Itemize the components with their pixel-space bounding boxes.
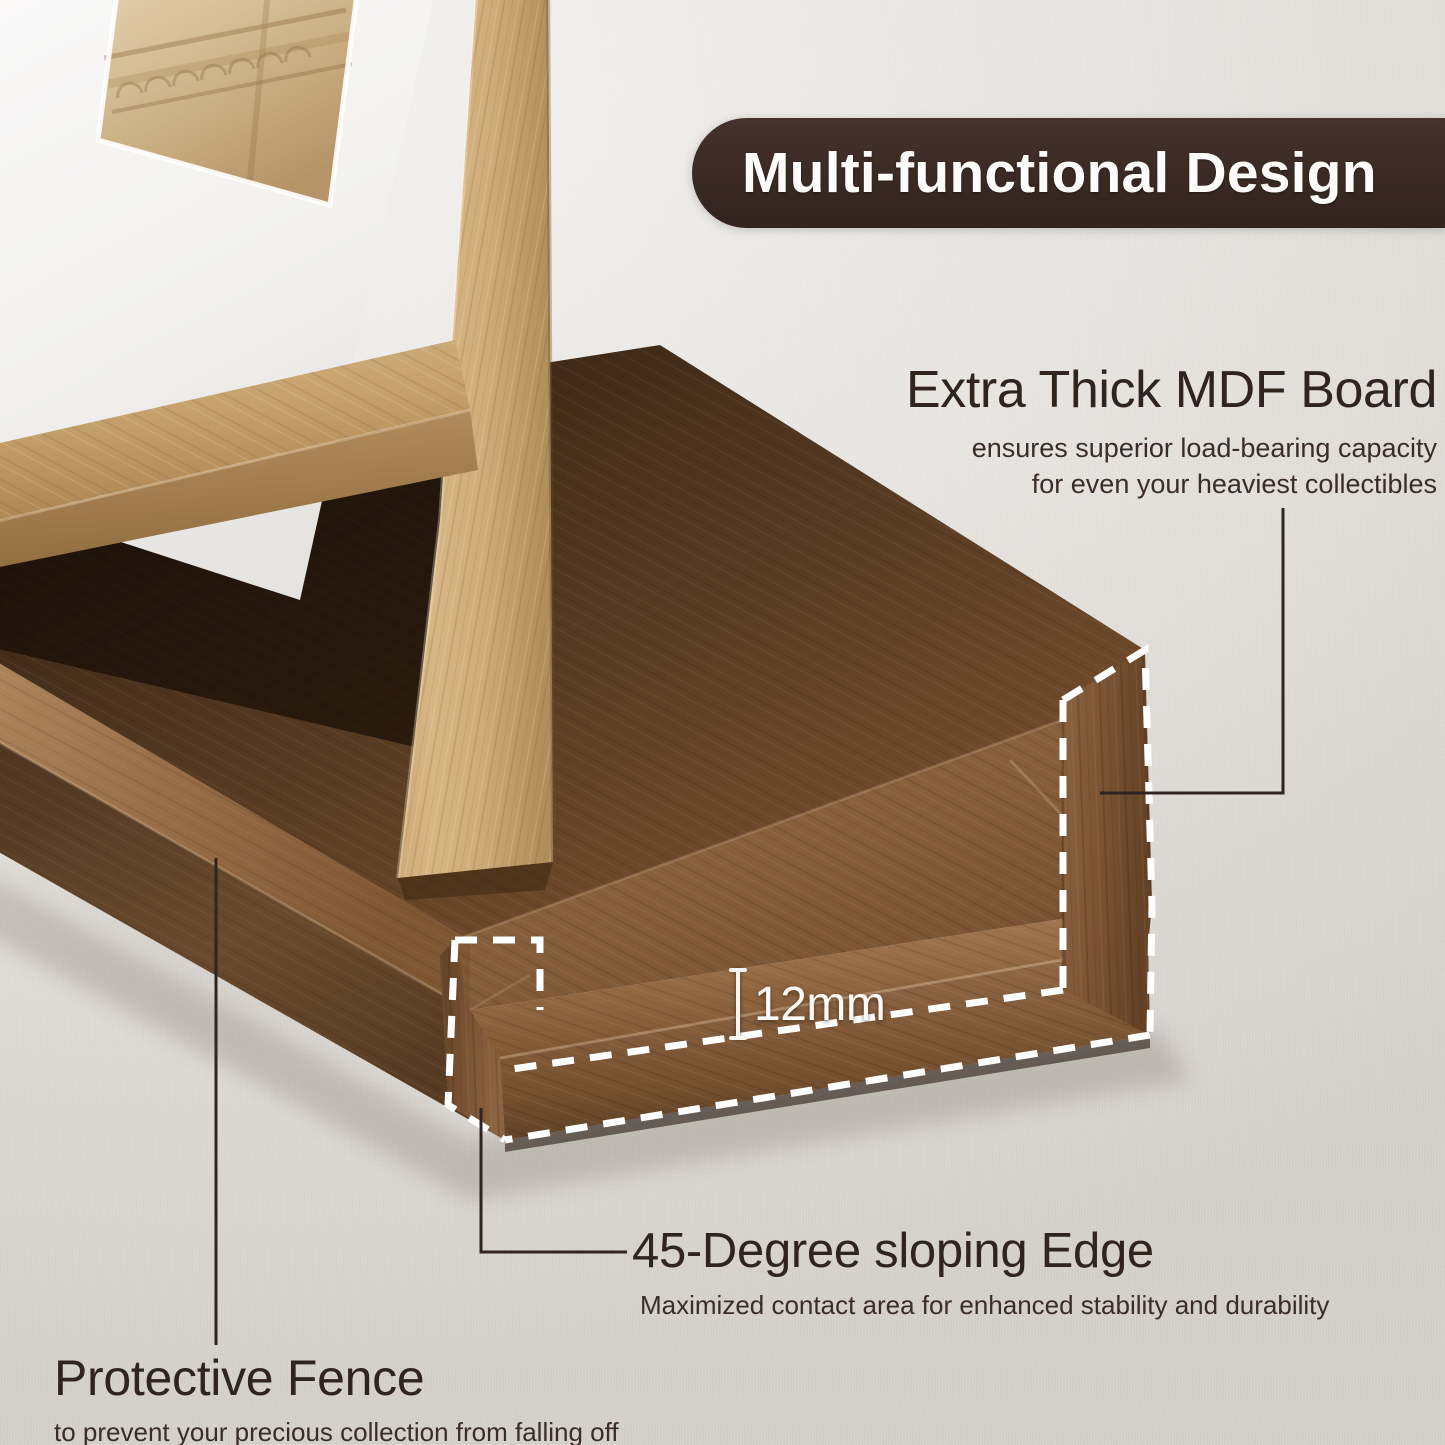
callout-mdf-board: Extra Thick MDF Board ensures superior l… [906,363,1437,502]
callout-protective-fence-subtitle: to prevent your precious collection from… [54,1416,619,1445]
header-banner: Multi-functional Design [692,118,1445,228]
callout-sloping-edge-subtitle: Maximized contact area for enhanced stab… [640,1289,1329,1322]
callout-mdf-board-subtitle-line2: for even your heaviest collectibles [906,467,1437,502]
callout-protective-fence: Protective Fence to prevent your preciou… [54,1352,619,1445]
dimension-bar-icon [736,968,740,1040]
product-feature-image: Multi-functional Design Extra Thick MDF … [0,0,1445,1445]
dimension-label-12mm: 12mm [736,968,885,1040]
callout-sloping-edge-title: 45-Degree sloping Edge [632,1226,1329,1277]
callout-sloping-edge: 45-Degree sloping Edge Maximized contact… [632,1226,1329,1323]
header-banner-label: Multi-functional Design [742,140,1377,206]
shelf-right-endcap-grain [1063,650,1152,1035]
callout-protective-fence-title: Protective Fence [54,1352,619,1405]
callout-mdf-board-title: Extra Thick MDF Board [906,363,1437,418]
callout-mdf-board-subtitle-line1: ensures superior load-bearing capacity [906,431,1437,466]
dimension-value: 12mm [754,977,885,1032]
